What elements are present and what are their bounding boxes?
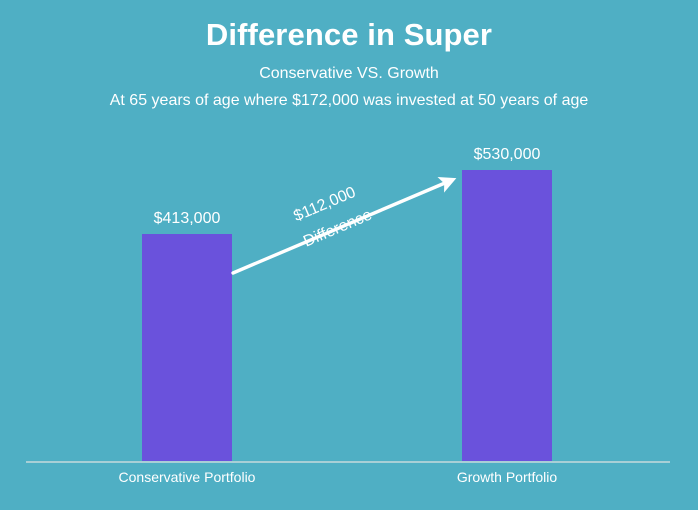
plot-area: $413,000 $530,000 Conservative Portfolio…	[0, 0, 698, 510]
difference-arrow-icon	[0, 0, 698, 510]
x-axis-label-conservative: Conservative Portfolio	[87, 469, 287, 485]
bar-value-label-growth: $530,000	[427, 146, 587, 164]
x-axis-label-growth: Growth Portfolio	[407, 469, 607, 485]
bar-conservative-portfolio	[142, 234, 232, 461]
bar-value-label-conservative: $413,000	[107, 210, 267, 228]
chart-container: Difference in Super Conservative VS. Gro…	[0, 0, 698, 510]
bar-growth-portfolio	[462, 170, 552, 461]
x-axis-line	[26, 461, 670, 463]
